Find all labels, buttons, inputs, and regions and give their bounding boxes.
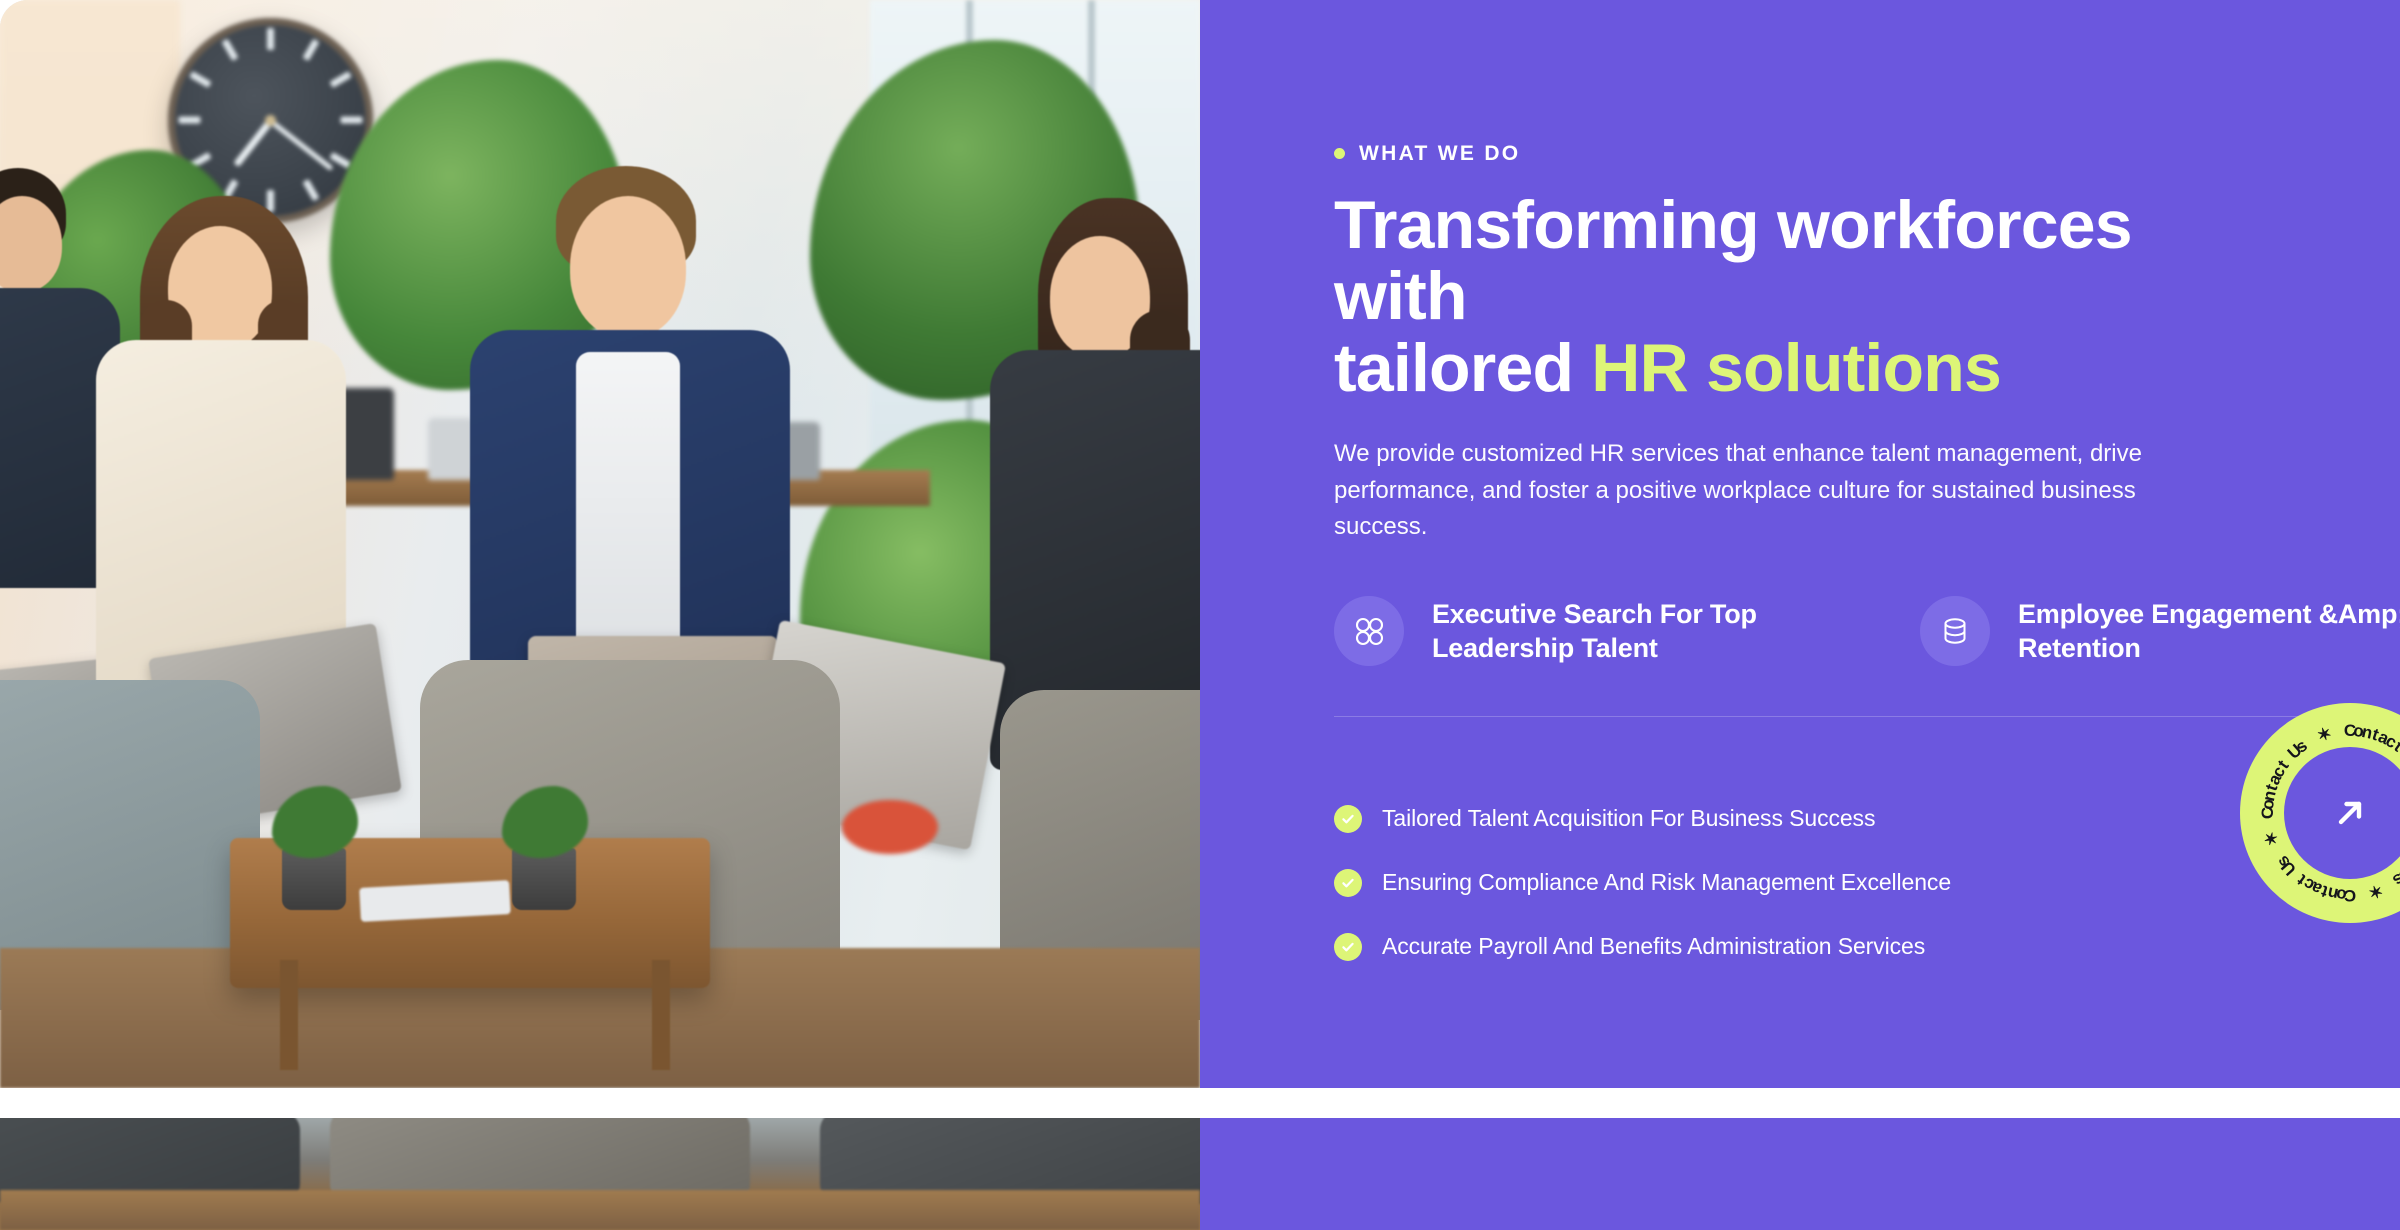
database-cylinder-icon (1920, 596, 1990, 666)
list-item: Accurate Payroll And Benefits Administra… (1334, 933, 2400, 961)
check-circle-icon (1334, 933, 1362, 961)
section-gap (0, 1088, 2400, 1118)
contact-us-badge[interactable]: Contact Us ✶ Contact Us ✶ Contact Us ✶ C… (2240, 703, 2400, 923)
service-item-executive-search[interactable]: Executive Search For Top Leadership Tale… (1334, 596, 1894, 666)
table-leg-left (280, 960, 298, 1070)
whatwedo-section: WHAT WE DO Transforming workforces witht… (0, 0, 2400, 1088)
page-root: WHAT WE DO Transforming workforces witht… (0, 0, 2400, 1230)
service-title: Employee Engagement &Amp; Retention (2018, 597, 2400, 665)
check-circle-icon (1334, 805, 1362, 833)
eyebrow-label: WHAT WE DO (1359, 143, 1520, 164)
service-item-employee-engagement[interactable]: Employee Engagement &Amp; Retention (1920, 596, 2400, 666)
office-photo-panel-repeat (0, 1118, 1200, 1230)
content-panel-repeat (1200, 1118, 2400, 1230)
office-photo (0, 0, 1200, 1088)
table-leg-right (652, 960, 670, 1070)
services-list: Executive Search For Top Leadership Tale… (1334, 596, 2400, 666)
page-title: Transforming workforces withtailored HR … (1334, 190, 2234, 404)
whatwedo-section-repeat (0, 1118, 2400, 1230)
list-item-label: Accurate Payroll And Benefits Administra… (1382, 933, 1925, 960)
office-photo-panel (0, 0, 1200, 1088)
floor-repeat (0, 1190, 1200, 1230)
check-circle-icon (1334, 869, 1362, 897)
list-item-label: Ensuring Compliance And Risk Management … (1382, 869, 1951, 896)
headline-highlight: HR solutions (1591, 330, 2001, 406)
four-circles-grid-icon (1334, 596, 1404, 666)
service-title: Executive Search For Top Leadership Tale… (1432, 597, 1757, 665)
arrow-up-right-icon (2326, 789, 2374, 837)
headline-line1: Transforming workforces with (1334, 187, 2132, 334)
content-panel: WHAT WE DO Transforming workforces witht… (1200, 0, 2400, 1088)
dot-icon (1334, 148, 1345, 159)
eyebrow: WHAT WE DO (1334, 143, 2400, 164)
office-photo-repeat (0, 1118, 1200, 1230)
list-item-label: Tailored Talent Acquisition For Business… (1382, 805, 1875, 832)
section-subcopy: We provide customized HR services that e… (1334, 436, 2214, 545)
headline-line2-plain: tailored (1334, 330, 1591, 406)
